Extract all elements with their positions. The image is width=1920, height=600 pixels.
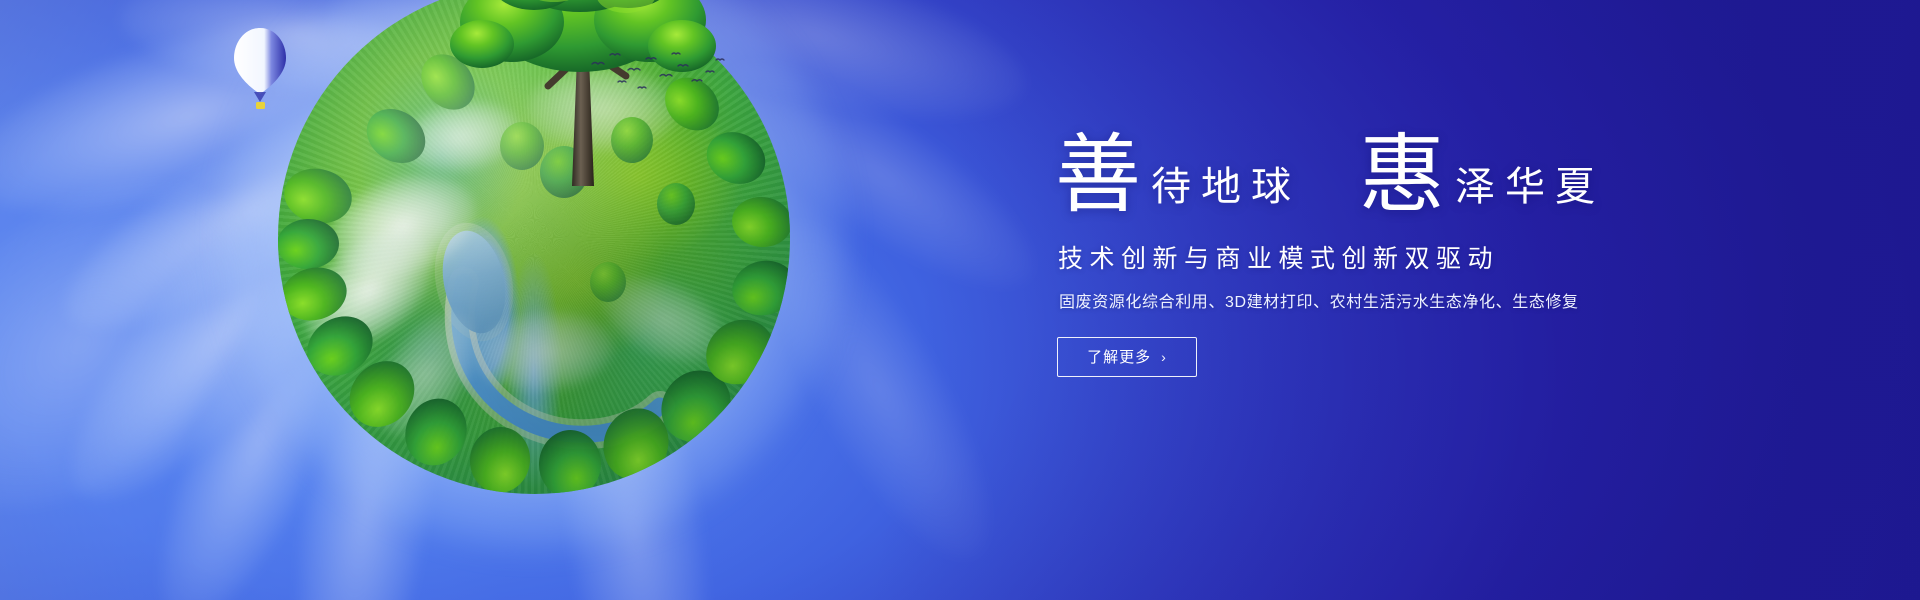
headline-lead-char-2: 惠 <box>1359 132 1445 218</box>
planet-sphere <box>278 0 790 494</box>
planet-rim-trees <box>278 0 790 494</box>
headline-rest-chars-1: 待地球 <box>1141 167 1301 207</box>
headline-lead-char-1: 善 <box>1055 132 1141 218</box>
headline-rest-chars-2: 泽华夏 <box>1445 167 1605 207</box>
description-text: 固废资源化综合利用、3D建材打印、农村生活污水生态净化、生态修复 <box>1059 293 1695 314</box>
chevron-right-icon: › <box>1161 350 1167 364</box>
learn-more-label: 了解更多 <box>1087 346 1151 367</box>
tiny-planet-globe <box>278 0 790 494</box>
hero-content: 善 待地球 惠 泽华夏 技术创新与商业模式创新双驱动 固废资源化综合利用、3D建… <box>1055 132 1695 377</box>
learn-more-button[interactable]: 了解更多 › <box>1057 337 1197 377</box>
page-title: 善 待地球 惠 泽华夏 <box>1055 132 1695 228</box>
subheadline: 技术创新与商业模式创新双驱动 <box>1058 244 1695 274</box>
hero-banner: 善 待地球 惠 泽华夏 技术创新与商业模式创新双驱动 固废资源化综合利用、3D建… <box>0 0 1920 600</box>
